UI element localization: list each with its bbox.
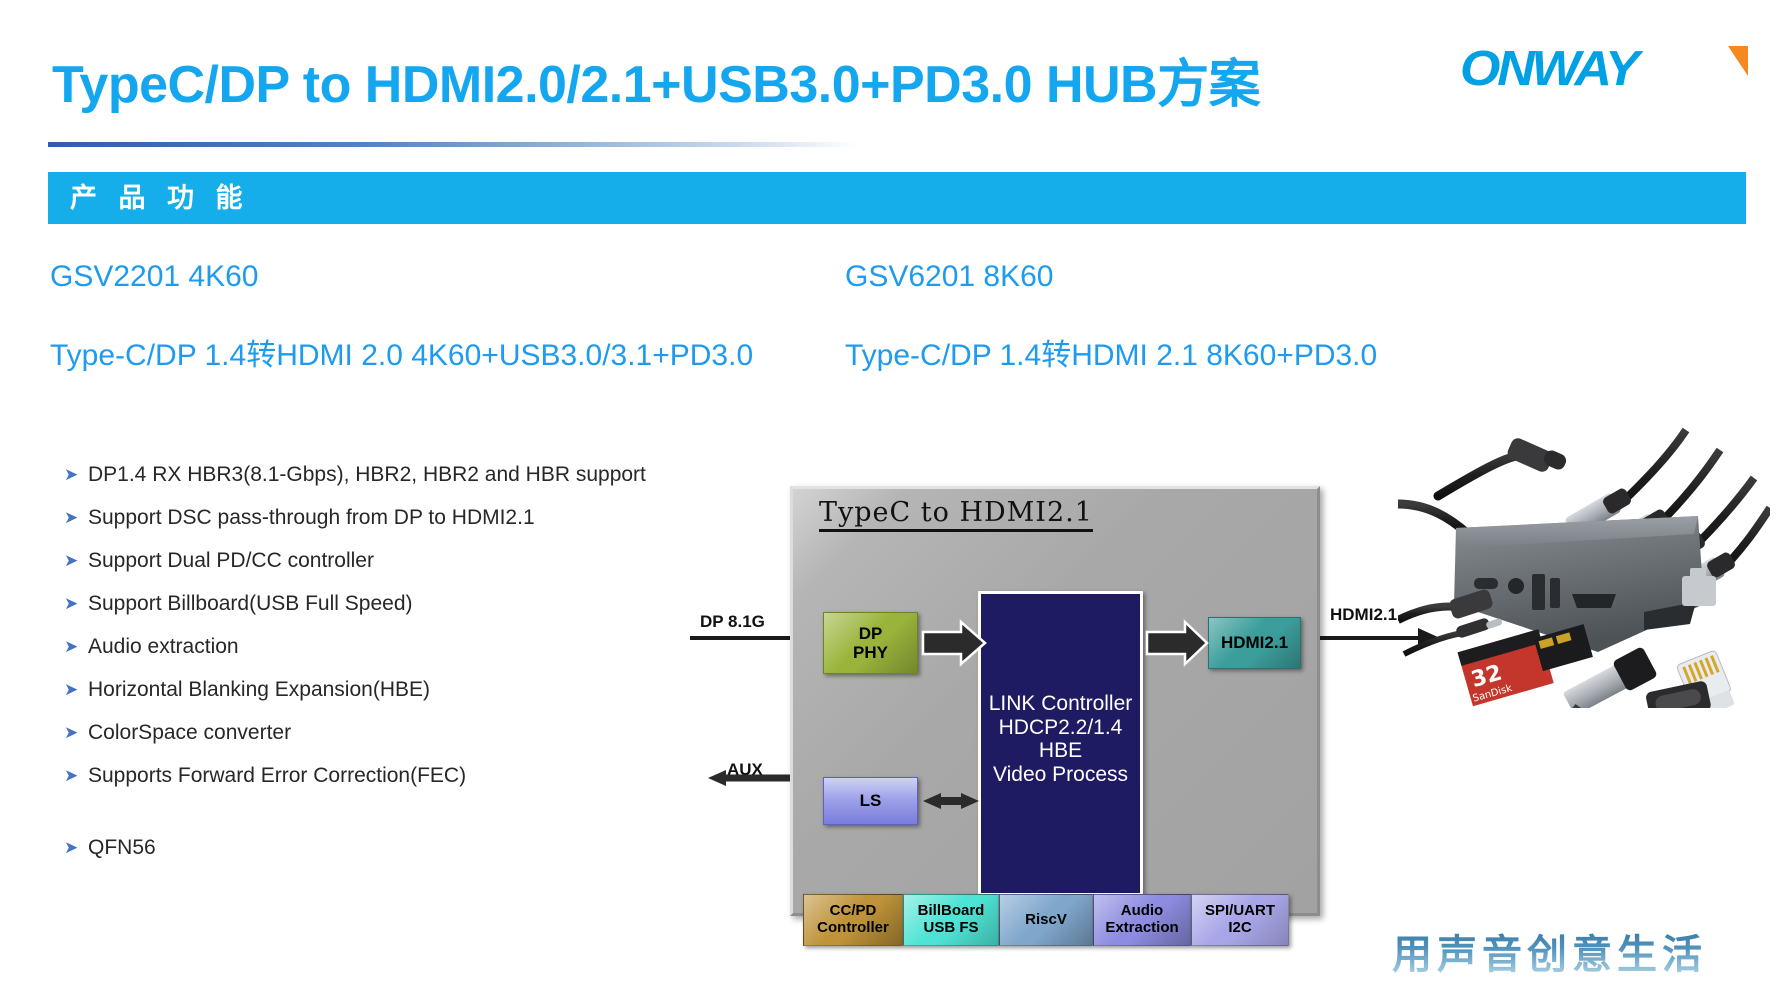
product-1-name: GSV2201 4K60 — [50, 260, 259, 294]
onway-logo: ONWAY — [1460, 38, 1750, 100]
list-item: ➤ ColorSpace converter — [50, 720, 750, 746]
product-2-name: GSV6201 8K60 — [845, 260, 1054, 294]
block-riscv: RiscV — [999, 894, 1093, 946]
block-diagram: TypeC to HDMI2.1 DP PHY LS LINK Controll… — [790, 486, 1320, 916]
product-2-description: Type-C/DP 1.4转HDMI 2.1 8K60+PD3.0 — [845, 330, 1377, 374]
list-item: ➤ Support Billboard(USB Full Speed) — [50, 591, 750, 617]
list-item-label: Support DSC pass-through from DP to HDMI… — [88, 505, 535, 531]
bullet-arrow-icon: ➤ — [50, 505, 88, 531]
block-riscv-line1: RiscV — [1025, 912, 1067, 929]
list-item: ➤ DP1.4 RX HBR3(8.1-Gbps), HBR2, HBR2 an… — [50, 462, 750, 488]
list-item-label: Support Dual PD/CC controller — [88, 548, 374, 574]
list-item-label: Audio extraction — [88, 634, 239, 660]
block-spi-uart-i2c: SPI/UART I2C — [1191, 894, 1289, 946]
diagram-bottom-block-row: CC/PD Controller BillBoard USB FS RiscV … — [803, 894, 1289, 946]
feature-list: ➤ DP1.4 RX HBR3(8.1-Gbps), HBR2, HBR2 an… — [50, 462, 750, 878]
list-item-label: Supports Forward Error Correction(FEC) — [88, 763, 466, 789]
product-1-description: Type-C/DP 1.4转HDMI 2.0 4K60+USB3.0/3.1+P… — [50, 330, 753, 374]
list-item-label: Horizontal Blanking Expansion(HBE) — [88, 677, 430, 703]
block-spi-line2: I2C — [1205, 920, 1275, 937]
list-item-package: ➤ QFN56 — [50, 835, 750, 861]
logo-triangle-icon — [1728, 46, 1748, 76]
list-item-label: Support Billboard(USB Full Speed) — [88, 591, 413, 617]
bullet-arrow-icon: ➤ — [50, 462, 88, 488]
page-title: TypeC/DP to HDMI2.0/2.1+USB3.0+PD3.0 HUB… — [52, 42, 1260, 117]
list-item: ➤ Support Dual PD/CC controller — [50, 548, 750, 574]
list-item: ➤ Horizontal Blanking Expansion(HBE) — [50, 677, 750, 703]
package-label: QFN56 — [88, 835, 156, 861]
block-spi-line1: SPI/UART — [1205, 903, 1275, 920]
bullet-arrow-icon: ➤ — [50, 720, 88, 746]
bullet-arrow-icon: ➤ — [50, 634, 88, 660]
list-item: ➤ Audio extraction — [50, 634, 750, 660]
block-audio-line1: Audio — [1105, 903, 1178, 920]
list-item: ➤ Support DSC pass-through from DP to HD… — [50, 505, 750, 531]
brand-watermark: 用声音创意生活 — [1392, 922, 1707, 980]
section-header-label: 产 品 功 能 — [48, 172, 1746, 224]
diagram-internal-arrows — [793, 489, 1323, 919]
block-audio-line2: Extraction — [1105, 920, 1178, 937]
list-item-label: DP1.4 RX HBR3(8.1-Gbps), HBR2, HBR2 and … — [88, 462, 646, 488]
block-cc-pd-line2: Controller — [817, 920, 889, 937]
list-item: ➤ Supports Forward Error Correction(FEC) — [50, 763, 750, 789]
block-cc-pd-controller: CC/PD Controller — [803, 894, 903, 946]
block-audio-extraction: Audio Extraction — [1093, 894, 1191, 946]
title-underline-rule — [48, 142, 858, 147]
section-header-bar: 产 品 功 能 — [48, 172, 1746, 224]
bullet-arrow-icon: ➤ — [50, 763, 88, 789]
block-cc-pd-line1: CC/PD — [817, 903, 889, 920]
usb-c-hub-illustration: 32 SanDisk — [1398, 408, 1770, 708]
logo-wordmark: ONWAY — [1460, 38, 1767, 100]
list-item-label: ColorSpace converter — [88, 720, 291, 746]
block-billboard-line1: BillBoard — [918, 903, 985, 920]
block-billboard-line2: USB FS — [918, 920, 985, 937]
block-billboard-usb-fs: BillBoard USB FS — [903, 894, 999, 946]
bullet-arrow-icon: ➤ — [50, 548, 88, 574]
bullet-arrow-icon: ➤ — [50, 835, 88, 861]
bullet-arrow-icon: ➤ — [50, 677, 88, 703]
product-photo: 32 SanDisk — [1398, 408, 1770, 708]
bullet-arrow-icon: ➤ — [50, 591, 88, 617]
